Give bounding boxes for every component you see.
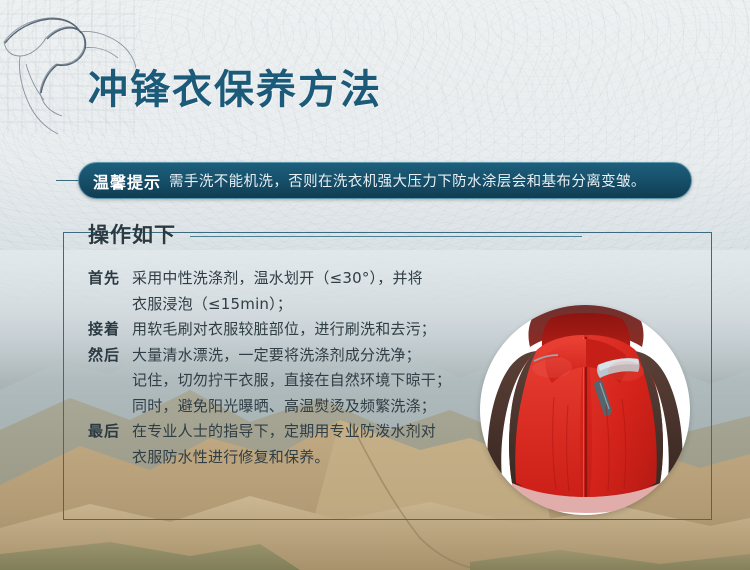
step-line: 用软毛刷对衣服较脏部位，进行刷洗和去污； [132, 317, 488, 343]
step-label: 最后 [88, 419, 132, 445]
page-title: 冲锋衣保养方法 [88, 57, 382, 115]
step-line: 衣服防水性进行修复和保养。 [132, 445, 488, 471]
step-label: 接着 [88, 317, 132, 343]
tip-banner: 温馨提示 需手洗不能机洗，否则在洗衣机强大压力下防水涂层会和基布分离变皱。 [78, 162, 692, 199]
section-heading-text: 操作如下 [88, 219, 176, 249]
jacket-photo [480, 305, 690, 515]
step-body: 采用中性洗涤剂，温水划开（≤30°），并将 衣服浸泡（≤15min）； [132, 266, 488, 317]
step-line: 在专业人士的指导下，定期用专业防泼水剂对 [132, 419, 488, 445]
product-image-circle [480, 305, 690, 515]
step-item: 接着 用软毛刷对衣服较脏部位，进行刷洗和去污； [88, 317, 488, 343]
product-detail-page: 冲锋衣保养方法 温馨提示 需手洗不能机洗，否则在洗衣机强大压力下防水涂层会和基布… [0, 0, 750, 570]
step-line: 衣服浸泡（≤15min）； [132, 292, 488, 318]
tip-banner-label: 温馨提示 [93, 169, 161, 193]
step-label: 然后 [88, 343, 132, 369]
step-line: 采用中性洗涤剂，温水划开（≤30°），并将 [132, 266, 488, 292]
step-line: 同时，避免阳光曝晒、高温熨烫及频繁洗涤； [132, 394, 488, 420]
section-heading-rule [190, 236, 582, 237]
step-line: 大量清水漂洗，一定要将洗涤剂成分洗净； [132, 343, 488, 369]
step-body: 用软毛刷对衣服较脏部位，进行刷洗和去污； [132, 317, 488, 343]
step-line: 记住，切勿拧干衣服，直接在自然环境下晾干； [132, 368, 488, 394]
step-body: 大量清水漂洗，一定要将洗涤剂成分洗净； 记住，切勿拧干衣服，直接在自然环境下晾干… [132, 343, 488, 420]
step-item: 然后 大量清水漂洗，一定要将洗涤剂成分洗净； 记住，切勿拧干衣服，直接在自然环境… [88, 343, 488, 420]
step-label: 首先 [88, 266, 132, 292]
step-item: 最后 在专业人士的指导下，定期用专业防泼水剂对 衣服防水性进行修复和保养。 [88, 419, 488, 470]
steps-list: 首先 采用中性洗涤剂，温水划开（≤30°），并将 衣服浸泡（≤15min）； 接… [88, 266, 488, 470]
step-item: 首先 采用中性洗涤剂，温水划开（≤30°），并将 衣服浸泡（≤15min）； [88, 266, 488, 317]
section-heading: 操作如下 [88, 219, 582, 249]
tip-banner-text: 需手洗不能机洗，否则在洗衣机强大压力下防水涂层会和基布分离变皱。 [169, 170, 646, 191]
step-body: 在专业人士的指导下，定期用专业防泼水剂对 衣服防水性进行修复和保养。 [132, 419, 488, 470]
